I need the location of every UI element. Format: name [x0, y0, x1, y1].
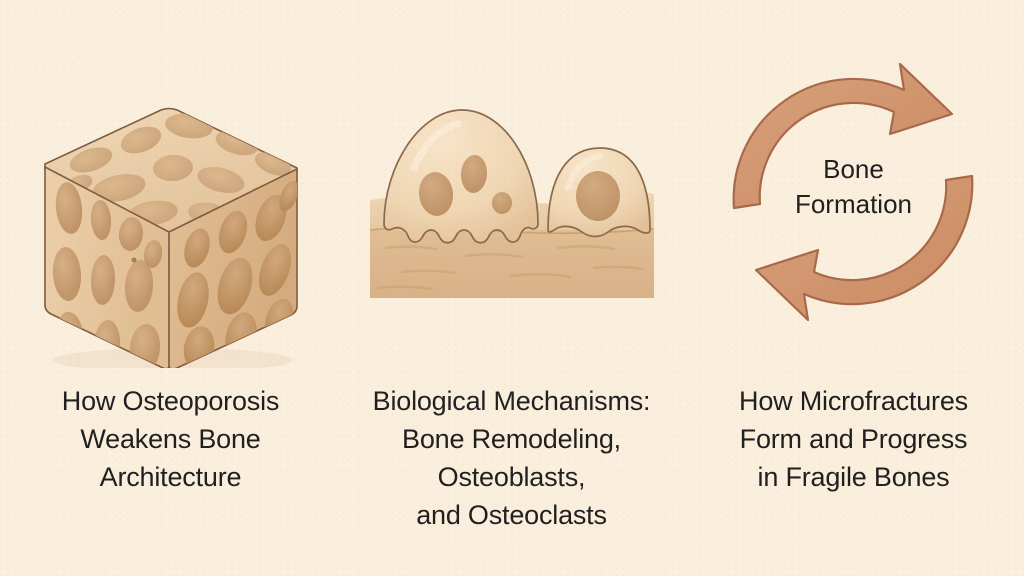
cycle-arrow-bottom — [756, 176, 972, 320]
panel-caption: How Microfractures Form and Progress in … — [683, 382, 1024, 496]
panel-caption: Biological Mechanisms: Bone Remodeling, … — [341, 382, 682, 534]
osteoclast-nucleus — [492, 192, 512, 214]
panel-caption: How Osteoporosis Weakens Bone Architectu… — [0, 382, 341, 496]
bone-remodeling-cycle-illustration — [683, 48, 1024, 368]
cycle-arrow-top — [733, 64, 951, 208]
panel-osteoporosis-architecture: How Osteoporosis Weakens Bone Architectu… — [0, 0, 341, 576]
panel-biological-mechanisms: Biological Mechanisms: Bone Remodeling, … — [341, 0, 682, 576]
panel-microfractures: How Microfractures Form and Progress in … — [683, 0, 1024, 576]
osteoclast-cell — [384, 110, 538, 243]
osteoblast-cell — [548, 148, 650, 237]
infographic-page: How Osteoporosis Weakens Bone Architectu… — [0, 0, 1024, 576]
osteoblast-nucleus — [576, 171, 620, 221]
trabecular-bone-cube-illustration — [0, 48, 341, 368]
osteoclast-osteoblast-illustration — [341, 48, 682, 368]
